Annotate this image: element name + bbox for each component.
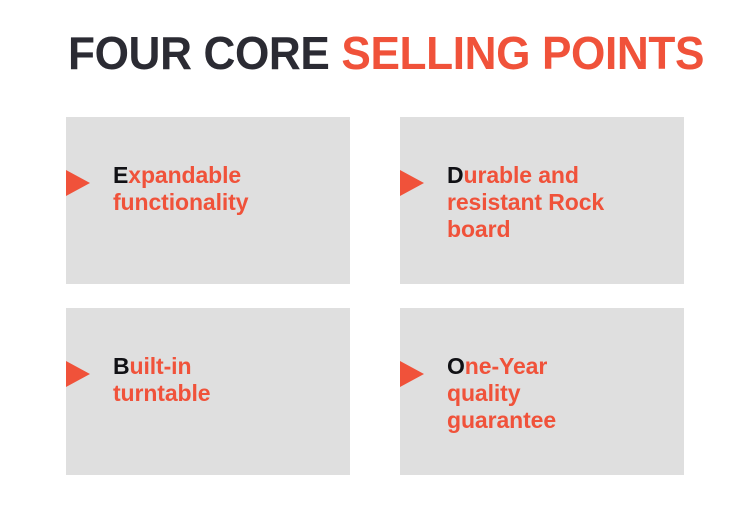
selling-point-label: Built-in turntable — [113, 353, 342, 407]
selling-point-label: Expandable functionality — [113, 162, 342, 216]
selling-point-initial: B — [113, 353, 130, 379]
triangle-right-icon — [66, 361, 90, 387]
selling-point-line: resistant Rock — [447, 189, 676, 216]
selling-point-line: Built-in — [113, 353, 342, 380]
selling-point-line: board — [447, 216, 676, 243]
selling-point-label: Durable and resistant Rock board — [447, 162, 676, 243]
triangle-right-icon — [66, 170, 90, 196]
page-title-accent-part: SELLING POINTS — [341, 27, 704, 79]
selling-point-card[interactable]: Built-in turntable — [66, 308, 350, 475]
selling-point-first-line-rest: ne-Year — [465, 353, 547, 379]
selling-point-first-line-rest: urable and — [464, 162, 579, 188]
selling-point-line: guarantee — [447, 407, 676, 434]
selling-point-line: One-Year — [447, 353, 676, 380]
selling-point-first-line-rest: xpandable — [128, 162, 241, 188]
slide-canvas: FOUR CORE SELLING POINTS Expandable func… — [0, 0, 750, 512]
selling-point-card[interactable]: Expandable functionality — [66, 117, 350, 284]
selling-point-line: quality — [447, 380, 676, 407]
selling-point-initial: E — [113, 162, 128, 188]
selling-point-initial: D — [447, 162, 464, 188]
selling-point-line: Expandable — [113, 162, 342, 189]
triangle-right-icon — [400, 170, 424, 196]
selling-point-line: turntable — [113, 380, 342, 407]
page-title-dark-part: FOUR CORE — [68, 27, 341, 79]
selling-point-label: One-Year quality guarantee — [447, 353, 676, 434]
selling-point-line: Durable and — [447, 162, 676, 189]
page-title: FOUR CORE SELLING POINTS — [68, 28, 682, 78]
selling-point-initial: O — [447, 353, 465, 379]
triangle-right-icon — [400, 361, 424, 387]
selling-point-card[interactable]: One-Year quality guarantee — [400, 308, 684, 475]
selling-point-first-line-rest: uilt-in — [130, 353, 192, 379]
selling-point-card[interactable]: Durable and resistant Rock board — [400, 117, 684, 284]
selling-points-grid: Expandable functionality Durable and res… — [66, 117, 684, 477]
selling-point-line: functionality — [113, 189, 342, 216]
